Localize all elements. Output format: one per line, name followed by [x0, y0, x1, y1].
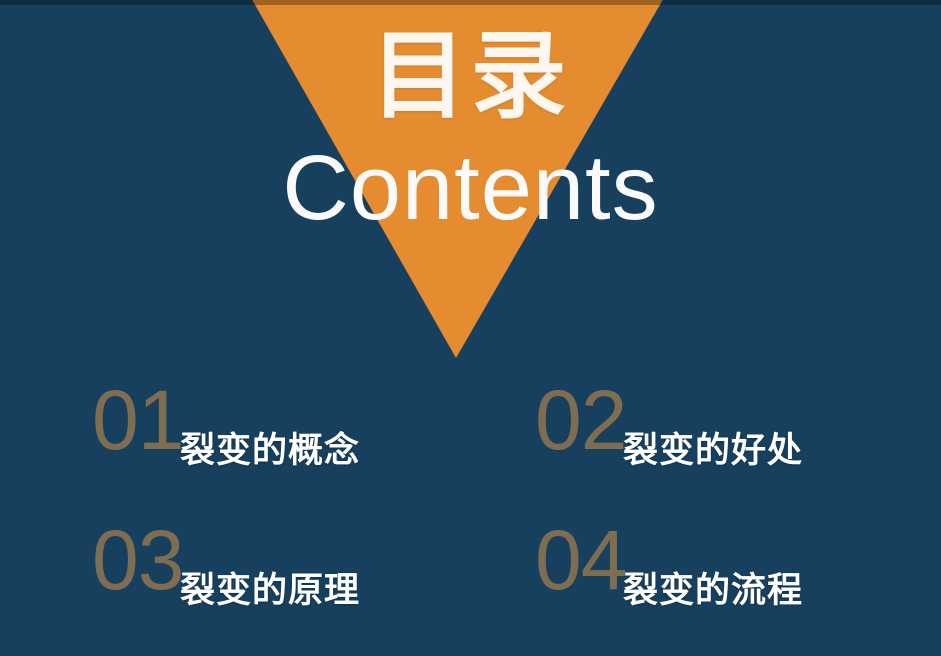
page-title-cn: 目录 [0, 28, 941, 124]
contents-item-04[interactable]: 04 裂变的流程 [535, 518, 941, 638]
contents-item-label: 裂变的流程 [623, 574, 803, 609]
page-title-en: Contents [0, 142, 941, 234]
contents-item-03[interactable]: 03 裂变的原理 [92, 518, 522, 638]
contents-item-number: 04 [535, 518, 626, 602]
contents-item-number: 02 [535, 378, 626, 462]
contents-list: 01 裂变的概念 02 裂变的好处 03 裂变的原理 04 裂变的流程 [0, 378, 941, 646]
contents-item-02[interactable]: 02 裂变的好处 [535, 378, 941, 498]
contents-item-number: 03 [92, 518, 183, 602]
contents-item-label: 裂变的概念 [180, 434, 360, 469]
slide-headline: 目录 Contents [0, 28, 941, 234]
contents-item-label: 裂变的原理 [180, 574, 360, 609]
contents-item-01[interactable]: 01 裂变的概念 [92, 378, 522, 498]
contents-item-number: 01 [92, 378, 183, 462]
contents-item-label: 裂变的好处 [623, 434, 803, 469]
presentation-slide: 目录 Contents 01 裂变的概念 02 裂变的好处 03 裂变的原理 0… [0, 0, 941, 656]
